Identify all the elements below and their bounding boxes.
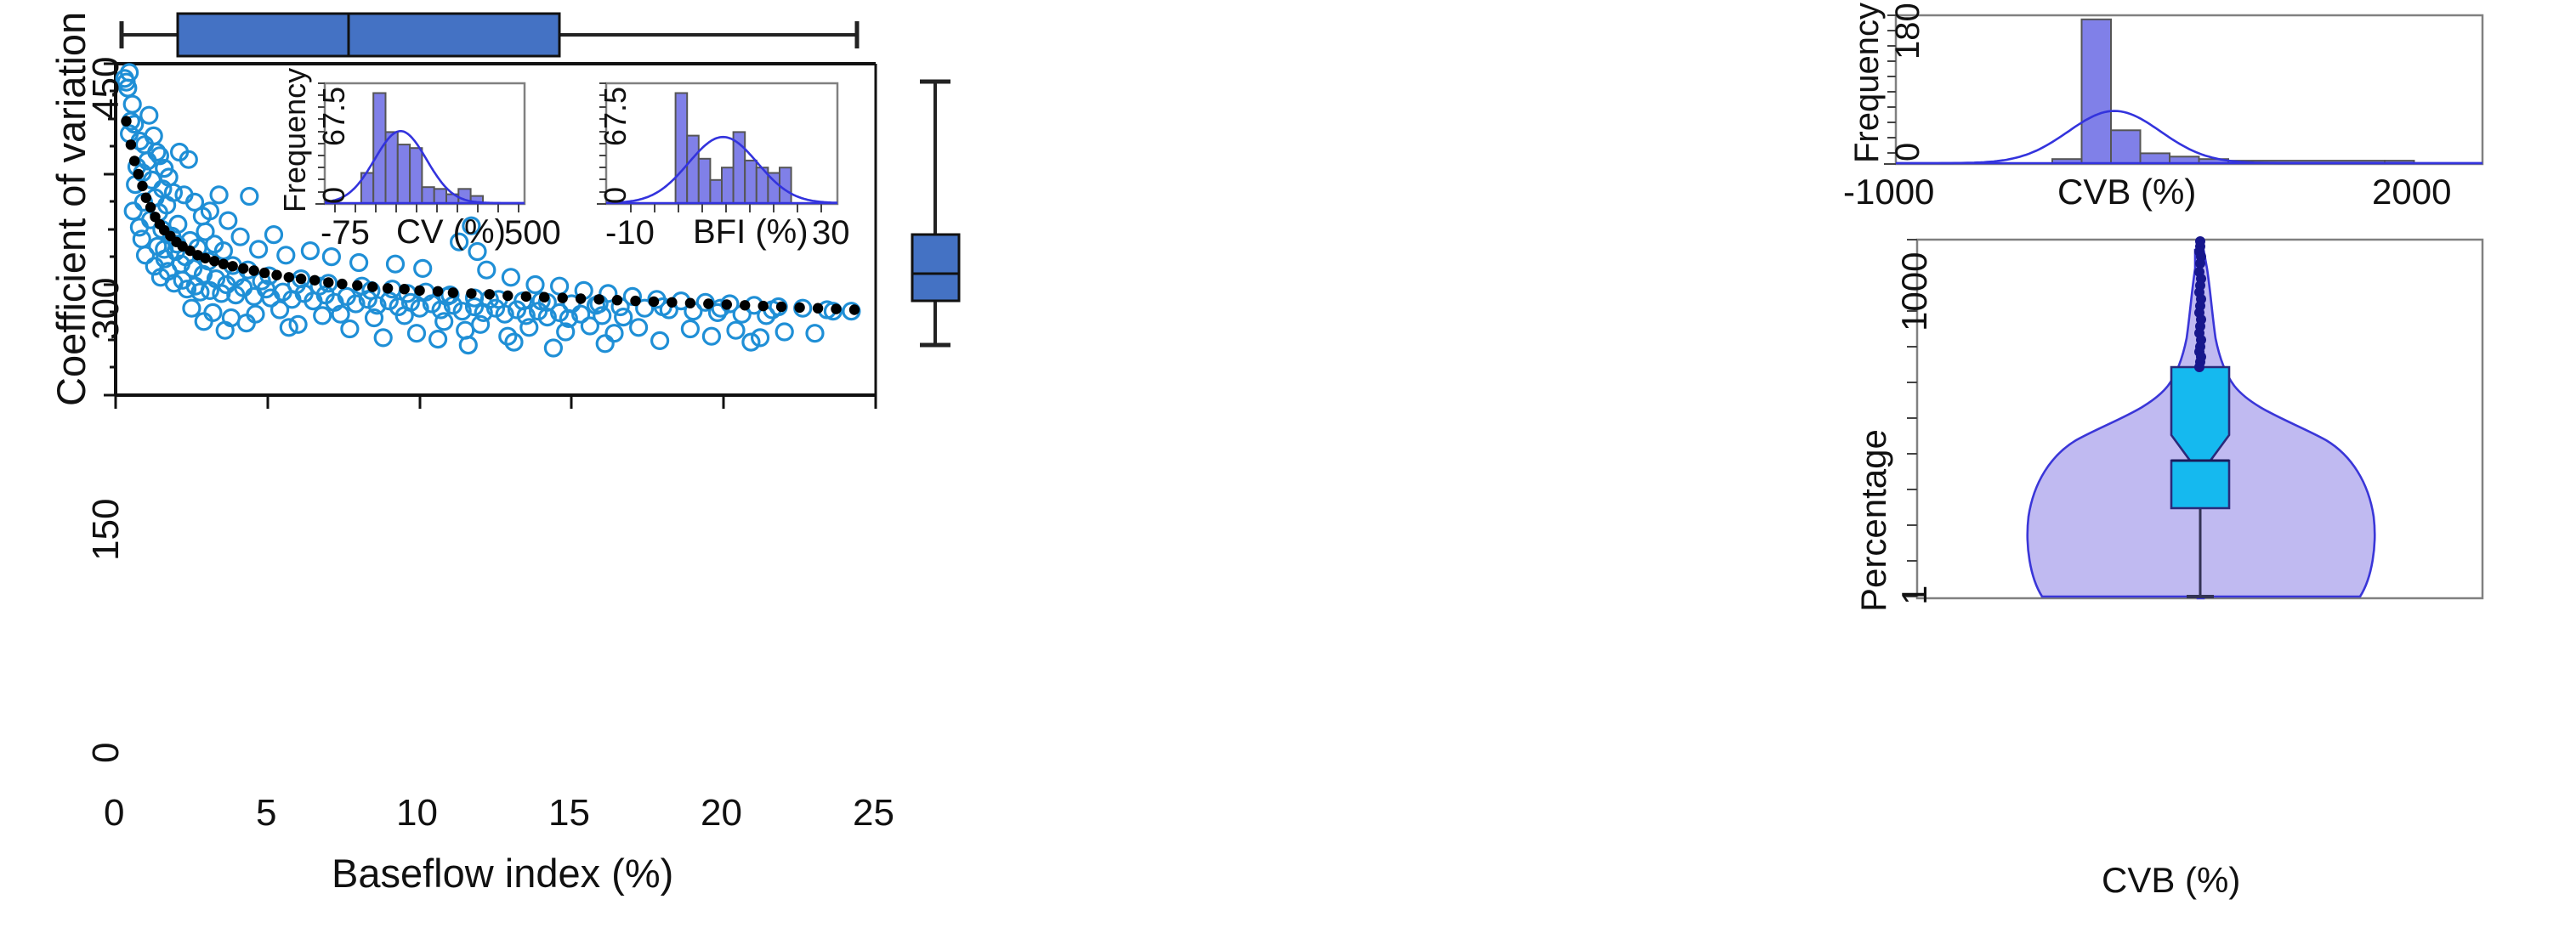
- inset-cv-x-axis-label: CV (%): [396, 213, 506, 252]
- violin-x-axis-label: CVB (%): [2102, 860, 2240, 901]
- inset-bfi-x-axis-label: BFI (%): [693, 213, 809, 252]
- inset-cv-y-tick-min: 0: [316, 187, 352, 204]
- violin-y-axis-label: Percentage: [1853, 429, 1894, 612]
- inset-cv-y-tick-max: 67.5: [316, 87, 352, 146]
- cvb-hist-x-tick-max: 2000: [2372, 172, 2451, 212]
- main-x-tick-20: 20: [701, 792, 742, 834]
- main-x-tick-5: 5: [256, 792, 276, 834]
- violin-y-tick-max: 1000: [1894, 252, 1935, 331]
- inset-bfi-y-tick-min: 0: [598, 187, 633, 204]
- inset-cv-y-axis-label: Frequency: [277, 68, 313, 212]
- main-x-tick-25: 25: [853, 792, 894, 834]
- main-x-tick-15: 15: [548, 792, 590, 834]
- inset-bfi-y-tick-max: 67.5: [598, 87, 633, 146]
- violin-outlier-points: [2194, 236, 2206, 372]
- main-y-tick-450: 450: [85, 57, 128, 119]
- main-x-axis-label: Baseflow index (%): [332, 850, 673, 897]
- main-y-tick-300: 300: [85, 278, 128, 340]
- right-boxplot: [912, 82, 959, 345]
- main-x-tick-0: 0: [104, 792, 124, 834]
- inset-cv-x-tick-min: -75: [321, 214, 370, 252]
- inset-cv-x-tick-max: 500: [504, 214, 561, 252]
- cvb-hist-x-axis-label: CVB (%): [2057, 172, 2196, 212]
- main-x-ticks: [116, 395, 876, 409]
- cvb-hist-y-axis-label: Frequency: [1848, 3, 1887, 163]
- figure-root: Coefficient of variation (%) Baseflow in…: [0, 0, 2576, 939]
- main-x-tick-10: 10: [396, 792, 438, 834]
- top-boxplot: [122, 14, 857, 56]
- cvb-hist-x-tick-min: -1000: [1843, 172, 1934, 212]
- inset-bfi-x-tick-max: 30: [812, 214, 850, 252]
- violin-y-tick-min: 1: [1894, 585, 1935, 605]
- main-y-tick-0: 0: [85, 743, 128, 763]
- cvb-hist-y-tick-max: 180: [1889, 3, 1927, 59]
- cvb-hist-y-tick-min: 0: [1889, 143, 1927, 161]
- violin-box: [2171, 367, 2229, 508]
- main-y-tick-150: 150: [85, 499, 128, 561]
- inset-bfi-x-tick-min: -10: [605, 214, 655, 252]
